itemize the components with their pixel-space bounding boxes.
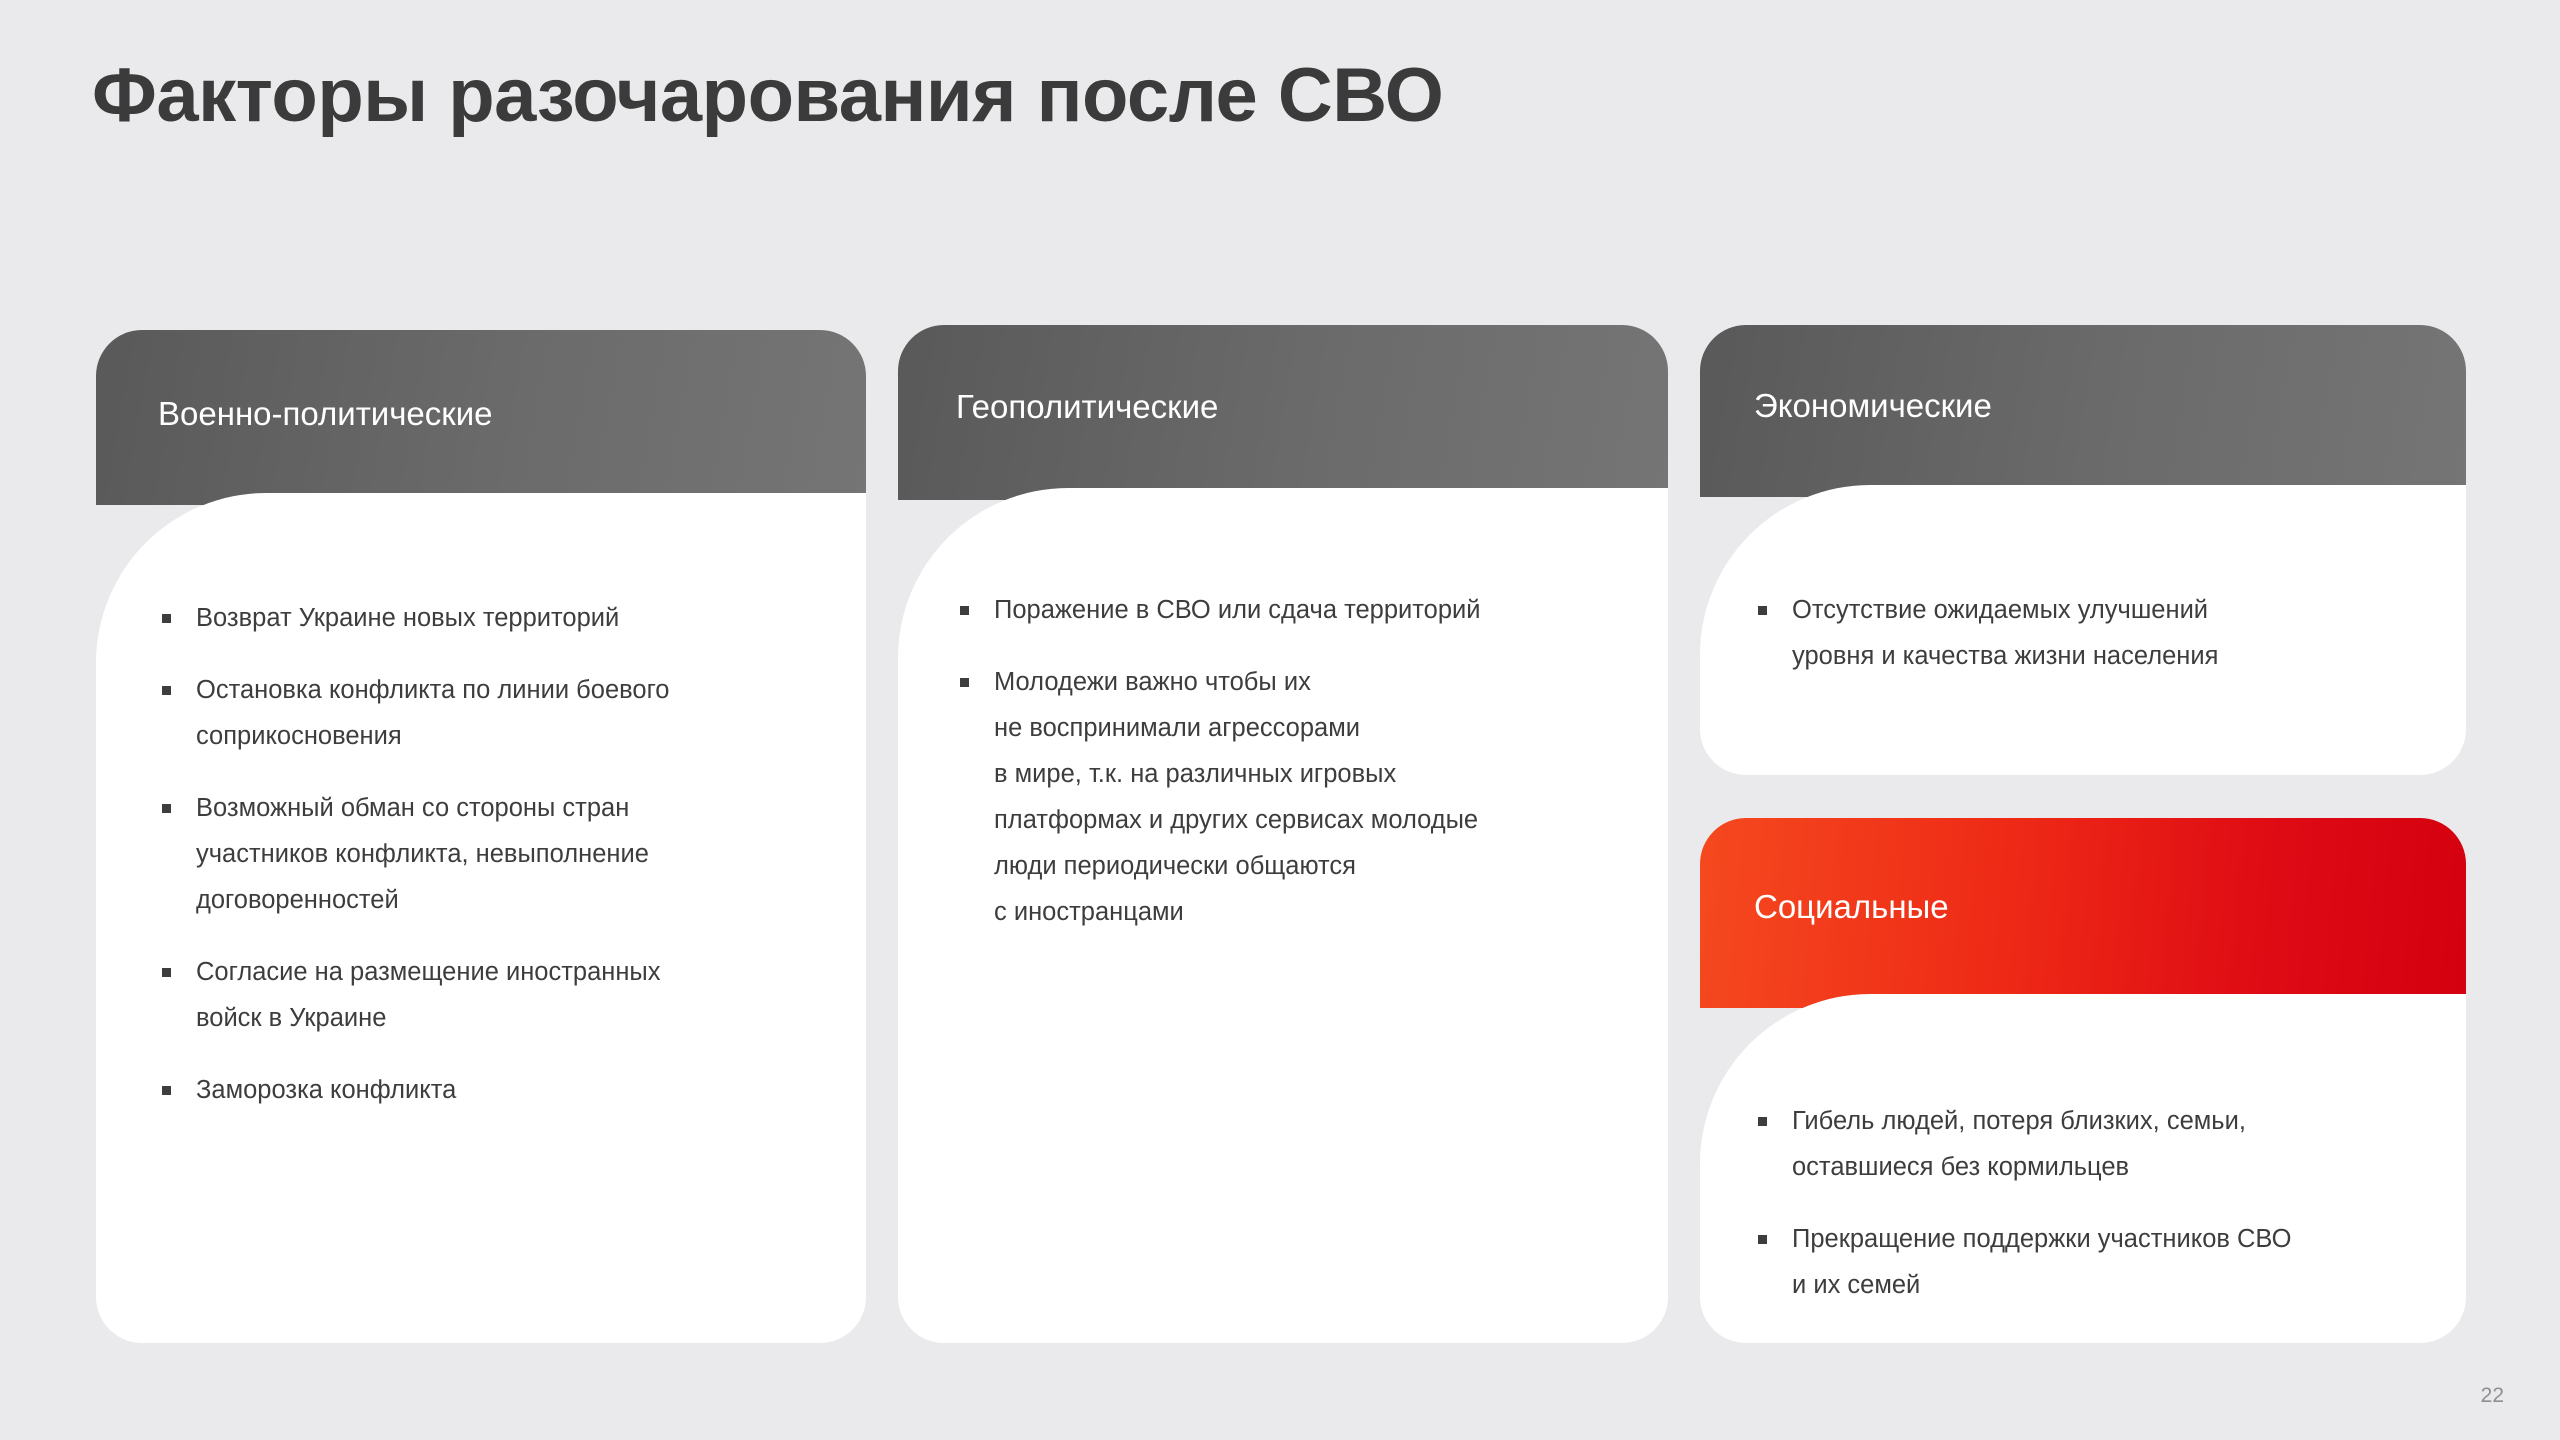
square-bullet-icon [162,686,171,695]
square-bullet-icon [960,606,969,615]
list-item-text: Возможный обман со стороны стран участни… [196,785,798,923]
list-item-text: Возврат Украине новых территорий [196,595,798,641]
card-title-geopolitical: Геополитические [956,388,1218,426]
list-item-text: Заморозка конфликта [196,1067,798,1113]
card-economic[interactable]: Экономические Отсутствие ожидаемых улучш… [1700,325,2466,775]
list-item: Возврат Украине новых территорий [158,595,798,641]
card-title-military-political: Военно-политические [158,395,493,433]
list-item-text: Прекращение поддержки участников СВО и и… [1792,1216,2424,1308]
card-title-social: Социальные [1754,888,1949,926]
list-item: Поражение в СВО или сдача территорий [956,587,1616,633]
list-item-text: Отсутствие ожидаемых улучшений уровня и … [1792,587,2414,679]
square-bullet-icon [1758,1117,1767,1126]
page-title: Факторы разочарования после СВО [92,52,1443,139]
square-bullet-icon [1758,606,1767,615]
list-item-text: Гибель людей, потеря близких, семьи, ост… [1792,1098,2424,1190]
list-item-text: Молодежи важно чтобы их не воспринимали … [994,659,1616,935]
card-geopolitical[interactable]: Геополитические Поражение в СВО или сдач… [898,325,1668,1343]
square-bullet-icon [162,968,171,977]
bullet-list-social: Гибель людей, потеря близких, семьи, ост… [1754,1098,2424,1308]
card-military-political[interactable]: Военно-политические Возврат Украине новы… [96,330,866,1343]
bullet-list-geopolitical: Поражение в СВО или сдача территорий Мол… [956,587,1616,935]
list-item: Согласие на размещение иностранных войск… [158,949,798,1041]
list-item: Заморозка конфликта [158,1067,798,1113]
card-title-economic: Экономические [1754,387,1992,425]
list-item-text: Согласие на размещение иностранных войск… [196,949,798,1041]
list-item: Гибель людей, потеря близких, семьи, ост… [1754,1098,2424,1190]
page-number: 22 [2481,1384,2504,1408]
bullet-list-economic: Отсутствие ожидаемых улучшений уровня и … [1754,587,2414,679]
slide-canvas: Факторы разочарования после СВО Военно-п… [0,0,2560,1440]
square-bullet-icon [162,804,171,813]
square-bullet-icon [162,1086,171,1095]
list-item: Молодежи важно чтобы их не воспринимали … [956,659,1616,935]
list-item-text: Остановка конфликта по линии боевого соп… [196,667,798,759]
list-item-text: Поражение в СВО или сдача территорий [994,587,1616,633]
list-item: Остановка конфликта по линии боевого соп… [158,667,798,759]
square-bullet-icon [960,678,969,687]
card-social[interactable]: Социальные Гибель людей, потеря близких,… [1700,818,2466,1343]
square-bullet-icon [162,614,171,623]
square-bullet-icon [1758,1235,1767,1244]
bullet-list-military-political: Возврат Украине новых территорий Останов… [158,595,798,1113]
list-item: Прекращение поддержки участников СВО и и… [1754,1216,2424,1308]
list-item: Отсутствие ожидаемых улучшений уровня и … [1754,587,2414,679]
list-item: Возможный обман со стороны стран участни… [158,785,798,923]
